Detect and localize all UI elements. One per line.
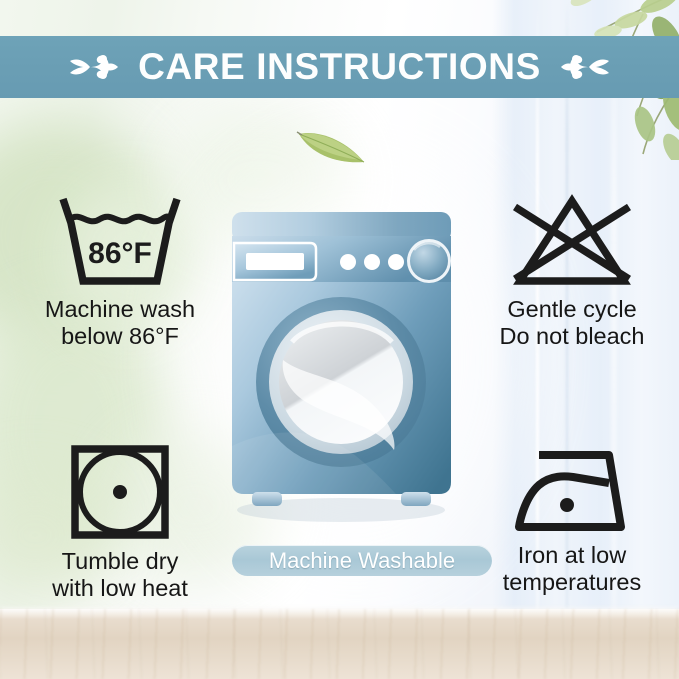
care-symbol-machine-wash: 86°F Machine wash below 86°F (22, 193, 218, 351)
fleur-de-lis-ornament-left-icon (68, 47, 120, 87)
care-symbol-iron: Iron at low temperatures (474, 443, 670, 597)
floating-leaf (296, 122, 368, 166)
caption-tumble-dry: Tumble dry with low heat (52, 548, 188, 603)
care-symbol-tumble-dry: Tumble dry with low heat (22, 443, 218, 603)
iron-heat-dot (560, 498, 574, 512)
wash-temperature-label: 86°F (88, 237, 152, 270)
indicator-light-2[interactable] (364, 254, 380, 270)
tumble-dry-square-icon (68, 443, 172, 541)
header-banner: CARE INSTRUCTIONS (0, 36, 679, 98)
detergent-drawer-slot (246, 253, 304, 270)
fleur-de-lis-ornament-right-icon (559, 47, 611, 87)
care-symbol-no-bleach: Gentle cycle Do not bleach (474, 193, 670, 351)
indicator-light-1[interactable] (340, 254, 356, 270)
care-instructions-infographic: CARE INSTRUCTIONS 86°F Machine wash belo… (0, 0, 679, 679)
washing-machine-illustration (228, 210, 455, 530)
iron-icon (509, 443, 635, 535)
washer-foot-right (401, 492, 431, 506)
wash-tub-icon: 86°F (55, 193, 185, 289)
machine-washable-badge: Machine Washable (232, 545, 492, 576)
washer-foot-left (252, 492, 282, 506)
machine-washable-badge-label: Machine Washable (269, 550, 455, 572)
page-title: CARE INSTRUCTIONS (138, 48, 541, 85)
caption-iron: Iron at low temperatures (503, 542, 641, 597)
wood-grain-texture (0, 609, 679, 679)
triangle-crossed-out-icon (507, 193, 637, 289)
caption-no-bleach: Gentle cycle Do not bleach (499, 296, 644, 351)
caption-machine-wash: Machine wash below 86°F (45, 296, 195, 351)
indicator-light-3[interactable] (388, 254, 404, 270)
